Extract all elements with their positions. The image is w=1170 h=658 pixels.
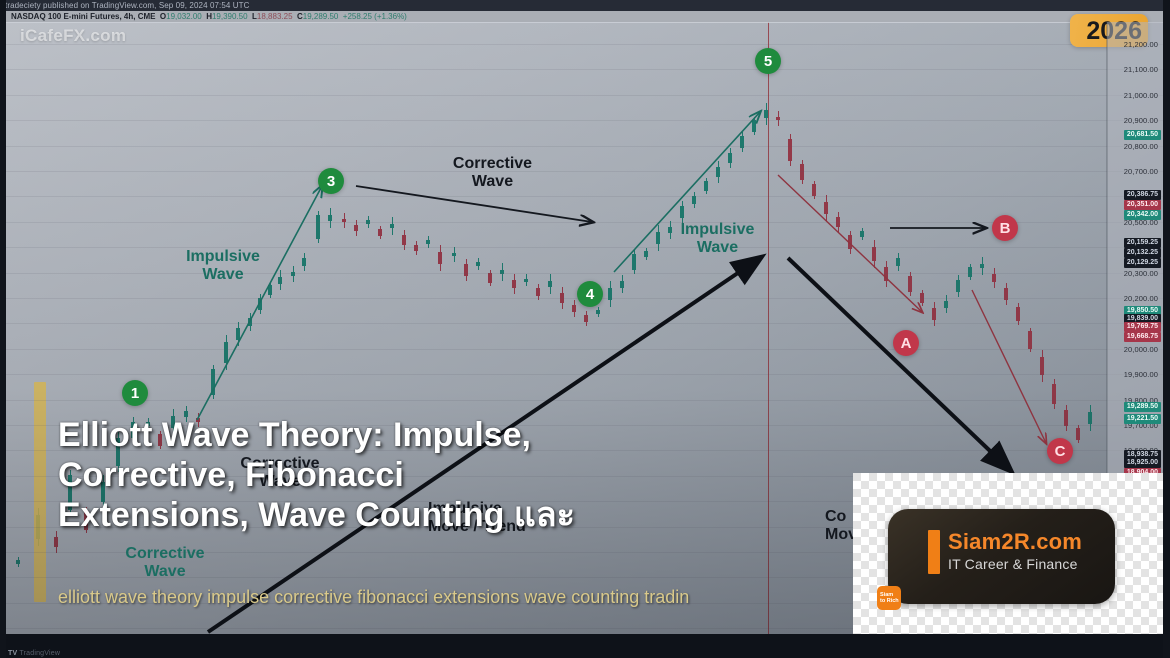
keyword-line: elliott wave theory impulse corrective f… bbox=[58, 587, 689, 608]
price-tag: 20,681.50 bbox=[1124, 130, 1161, 140]
tradingview-footer-label: TradingView bbox=[19, 650, 60, 657]
price-axis-label: 20,200.00 bbox=[1124, 294, 1158, 303]
badge-line-2: to Rich bbox=[880, 598, 899, 604]
logo-subtitle: IT Career & Finance bbox=[948, 556, 1078, 572]
wave-marker-3[interactable]: 3 bbox=[318, 168, 344, 194]
screenshot-root: tradeciety published on TradingView.com,… bbox=[0, 0, 1170, 658]
price-tag: 19,668.75 bbox=[1124, 332, 1161, 342]
price-tag: 19,769.75 bbox=[1124, 322, 1161, 332]
change-value: +258.25 (+1.36%) bbox=[343, 12, 407, 21]
tradingview-footer: TV TradingView bbox=[8, 650, 60, 657]
price-tag: 20,129.25 bbox=[1124, 258, 1161, 268]
price-tag: 18,925.00 bbox=[1124, 458, 1161, 468]
wave-marker-label: A bbox=[901, 335, 912, 352]
price-tag: 20,386.75 bbox=[1124, 190, 1161, 200]
price-tag: 20,132.25 bbox=[1124, 248, 1161, 258]
price-axis-label: 21,100.00 bbox=[1124, 65, 1158, 74]
low-value: 18,883.25 bbox=[257, 12, 293, 21]
annotation-corrective-wave-lower: Corrective Wave bbox=[110, 545, 220, 581]
video-title: Elliott Wave Theory: Impulse, Corrective… bbox=[58, 416, 758, 535]
wave-marker-label: 1 bbox=[131, 385, 139, 402]
price-tag: 19,221.50 bbox=[1124, 414, 1161, 424]
publisher-bar: tradeciety published on TradingView.com,… bbox=[0, 0, 1170, 11]
bottom-strip bbox=[0, 634, 1170, 658]
ticker-info-bar: NASDAQ 100 E-mini Futures, 4h, CME O19,0… bbox=[6, 11, 1164, 23]
wave-marker-5[interactable]: 5 bbox=[755, 48, 781, 74]
wave-marker-label: C bbox=[1055, 443, 1066, 460]
price-axis-label: 20,800.00 bbox=[1124, 142, 1158, 151]
close-value: 19,289.50 bbox=[303, 12, 339, 21]
title-line-3: Extensions, Wave Counting และ bbox=[58, 496, 758, 536]
price-axis-label: 20,000.00 bbox=[1124, 345, 1158, 354]
wave-marker-b[interactable]: B bbox=[992, 215, 1018, 241]
wave-marker-label: 4 bbox=[586, 286, 594, 303]
wave-marker-label: 5 bbox=[764, 53, 772, 70]
left-border bbox=[0, 0, 6, 658]
siam-to-rich-badge: Siam to Rich bbox=[877, 586, 901, 610]
title-line-2: Corrective, Fibonacci bbox=[58, 456, 758, 496]
wave-marker-4[interactable]: 4 bbox=[577, 281, 603, 307]
right-border bbox=[1163, 0, 1170, 658]
title-line-1: Elliott Wave Theory: Impulse, bbox=[58, 416, 758, 456]
annotation-impulsive-wave-mid: Impulsive Wave bbox=[665, 221, 770, 257]
wave-marker-label: B bbox=[1000, 220, 1011, 237]
open-value: 19,032.00 bbox=[166, 12, 202, 21]
wave-marker-a[interactable]: A bbox=[893, 330, 919, 356]
annotation-corrective-wave-top: Corrective Wave bbox=[435, 155, 550, 191]
wave-marker-label: 3 bbox=[327, 173, 335, 190]
ticker-symbol: NASDAQ 100 E-mini Futures, 4h, CME bbox=[11, 12, 155, 21]
price-tag: 20,159.25 bbox=[1124, 238, 1161, 248]
high-value: 19,390.50 bbox=[212, 12, 248, 21]
wave-marker-c[interactable]: C bbox=[1047, 438, 1073, 464]
price-axis-label: 20,700.00 bbox=[1124, 167, 1158, 176]
price-axis-label: 19,900.00 bbox=[1124, 370, 1158, 379]
wave-marker-1[interactable]: 1 bbox=[122, 380, 148, 406]
price-tag: 20,342.00 bbox=[1124, 210, 1161, 220]
logo-name: Siam2R.com bbox=[948, 529, 1082, 555]
logo-bar-icon bbox=[928, 530, 940, 574]
price-tag: 20,351.00 bbox=[1124, 200, 1161, 210]
annotation-impulsive-wave-left: Impulsive Wave bbox=[168, 248, 278, 284]
price-axis-label: 21,200.00 bbox=[1124, 40, 1158, 49]
site-watermark: iCafeFX.com bbox=[20, 26, 126, 46]
logo-card[interactable]: Siam2R.com IT Career & Finance bbox=[888, 509, 1115, 604]
price-axis-label: 20,300.00 bbox=[1124, 269, 1158, 278]
price-axis-label: 21,000.00 bbox=[1124, 91, 1158, 100]
price-tag: 19,289.50 bbox=[1124, 402, 1161, 412]
logo-panel: Siam2R.com IT Career & Finance Siam to R… bbox=[853, 473, 1163, 638]
price-axis-label: 20,900.00 bbox=[1124, 116, 1158, 125]
